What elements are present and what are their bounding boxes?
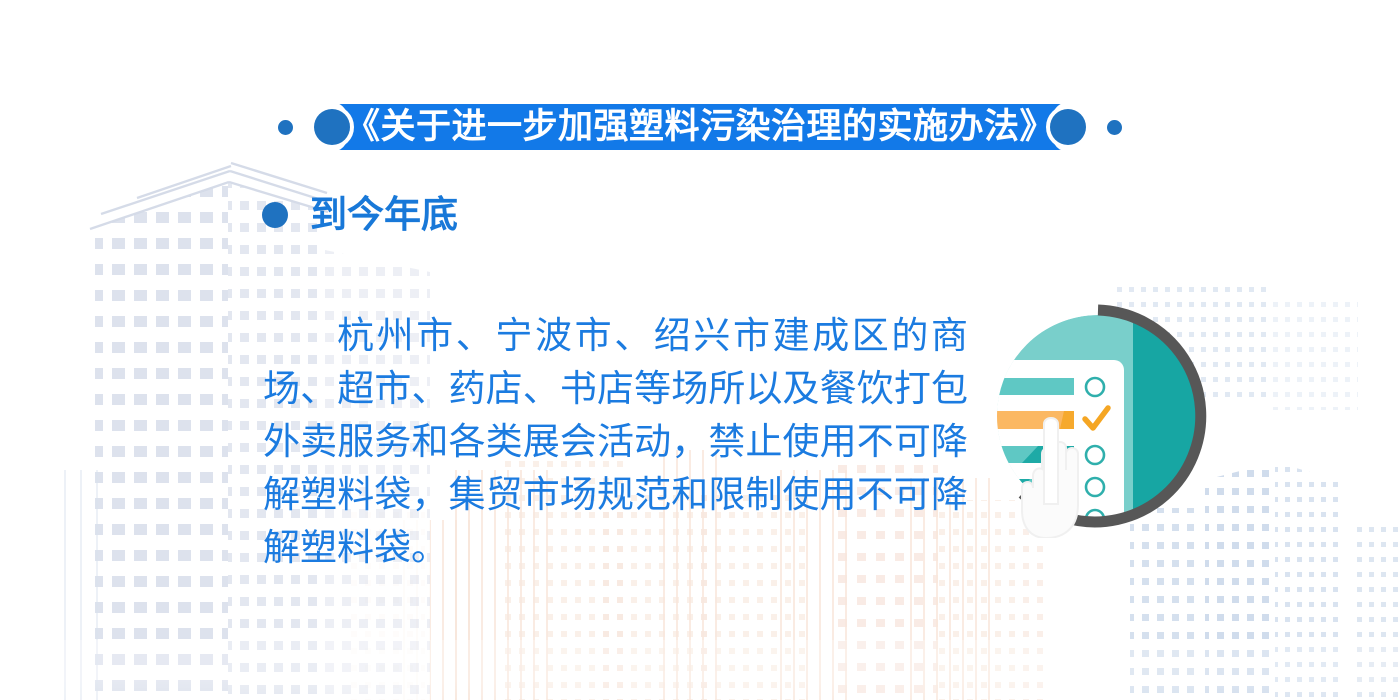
section-heading: 到今年底: [262, 196, 458, 233]
checklist-svg: [978, 298, 1218, 538]
section-heading-label: 到今年底: [310, 196, 458, 233]
poster-canvas: 《关于进一步加强塑料污染治理的实施办法》 到今年底 杭州市、宁波市、绍兴市建成区…: [0, 0, 1400, 700]
checklist-bar-1: [986, 378, 1074, 395]
title-banner: 《关于进一步加强塑料污染治理的实施办法》: [335, 104, 1065, 150]
teal-disc: [980, 308, 1218, 538]
decor-dot-left-big: [309, 104, 355, 150]
decor-dot-right-big: [1045, 104, 1091, 150]
left-thin-slab: [60, 470, 98, 700]
decor-dot-left-small: [278, 120, 293, 135]
checklist-circle-illustration: [978, 298, 1218, 538]
section-paragraph: 杭州市、宁波市、绍兴市建成区的商场、超市、药店、书店等场所以及餐饮打包外卖服务和…: [263, 309, 968, 574]
bullet-icon: [262, 202, 288, 228]
page-title: 《关于进一步加强塑料污染治理的实施办法》: [345, 109, 1055, 146]
title-banner-row: 《关于进一步加强塑料污染治理的实施办法》: [0, 96, 1400, 158]
checklist-bar-2: [980, 411, 1074, 429]
decor-dot-right-small: [1107, 120, 1122, 135]
